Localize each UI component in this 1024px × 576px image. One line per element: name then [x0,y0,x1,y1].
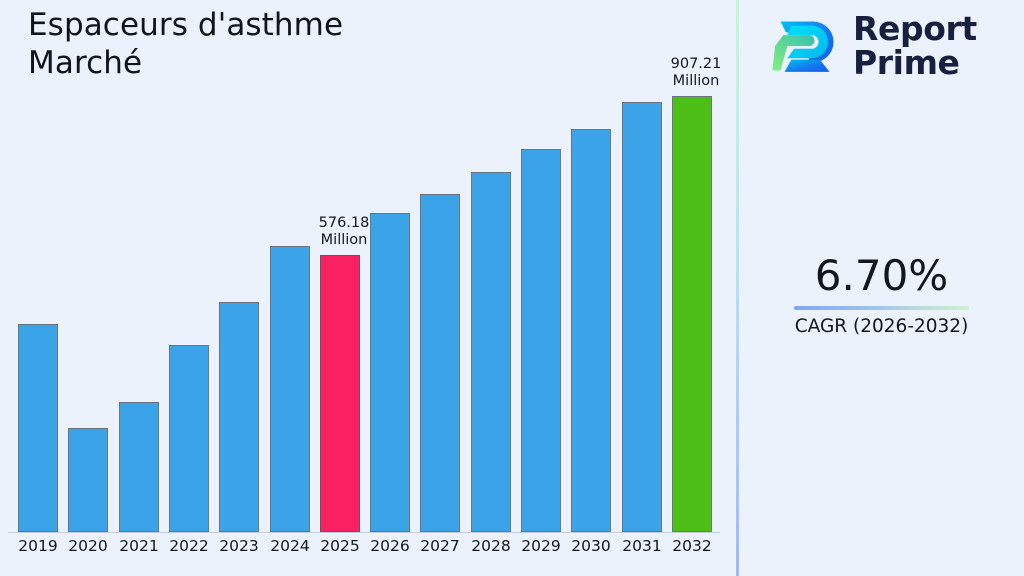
cagr-divider-rule [794,306,969,310]
x-tick-2032: 2032 [664,537,720,555]
x-tick-2025: 2025 [312,537,368,555]
cagr-value: 6.70% [739,252,1024,300]
bar-2030 [571,129,611,532]
x-tick-2029: 2029 [513,537,569,555]
cagr-block: 6.70% CAGR (2026-2032) [739,252,1024,339]
chart-page: Espaceurs d'asthme Marché 576.18 Million… [0,0,1024,576]
x-tick-2027: 2027 [412,537,468,555]
bar-value-label-2025: 576.18 Million [289,215,399,249]
bar-value-label-2032: 907.21 Million [641,56,751,90]
brand-logo: Report Prime [771,10,977,82]
report-prime-logo-icon [771,10,839,82]
brand-name: Report Prime [853,12,977,80]
x-tick-2019: 2019 [10,537,66,555]
x-tick-2026: 2026 [362,537,418,555]
bar-2028 [471,172,511,532]
x-tick-2031: 2031 [614,537,670,555]
summary-panel: Report Prime 6.70% CAGR (2026-2032) [739,0,1024,576]
x-tick-2028: 2028 [463,537,519,555]
bar-2022 [169,345,209,532]
bar-chart-plot: 576.18 Million907.21 Million 20192020202… [0,0,737,576]
x-tick-2023: 2023 [211,537,267,555]
x-tick-2024: 2024 [262,537,318,555]
chart-panel: Espaceurs d'asthme Marché 576.18 Million… [0,0,737,576]
x-tick-2022: 2022 [161,537,217,555]
x-axis-line [8,532,720,533]
bar-2024 [270,246,310,532]
bar-2023 [219,302,259,532]
cagr-caption: CAGR (2026-2032) [739,315,1024,339]
bar-2031 [622,102,662,532]
bar-2029 [521,149,561,532]
bar-2019 [18,324,58,532]
bar-2020 [68,428,108,532]
x-tick-2021: 2021 [111,537,167,555]
bar-2025 [320,255,360,532]
bar-2021 [119,402,159,532]
x-tick-2020: 2020 [60,537,116,555]
bar-2026 [370,213,410,532]
bar-2032 [672,96,712,532]
x-tick-2030: 2030 [563,537,619,555]
bar-2027 [420,194,460,532]
